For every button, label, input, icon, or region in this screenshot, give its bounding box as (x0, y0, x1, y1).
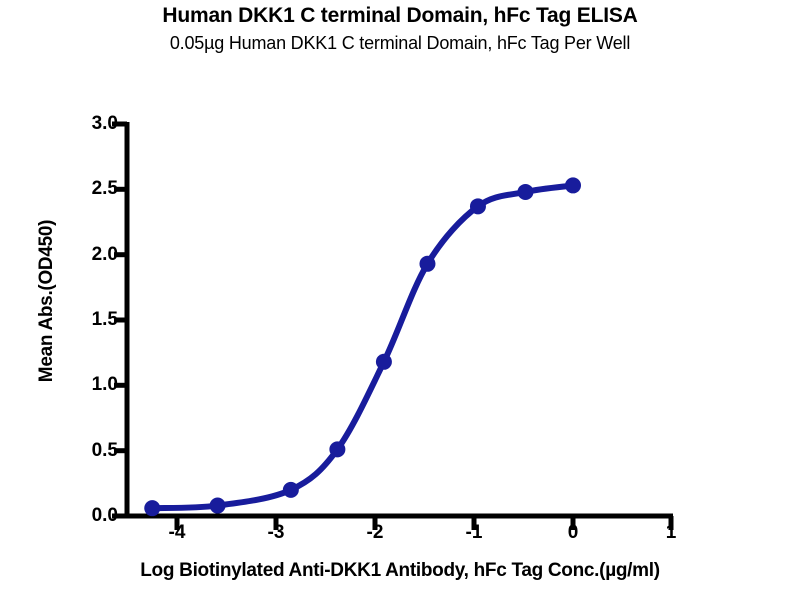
data-point (329, 441, 345, 457)
plot-area (0, 0, 800, 600)
data-point (210, 498, 226, 514)
sigmoid-curve (152, 185, 573, 508)
data-point (419, 256, 435, 272)
data-point (517, 184, 533, 200)
data-point (376, 354, 392, 370)
data-point (470, 198, 486, 214)
data-point (565, 177, 581, 193)
data-point-markers (144, 177, 581, 516)
data-point (144, 500, 160, 516)
data-point (283, 482, 299, 498)
elisa-chart: Human DKK1 C terminal Domain, hFc Tag EL… (0, 0, 800, 600)
